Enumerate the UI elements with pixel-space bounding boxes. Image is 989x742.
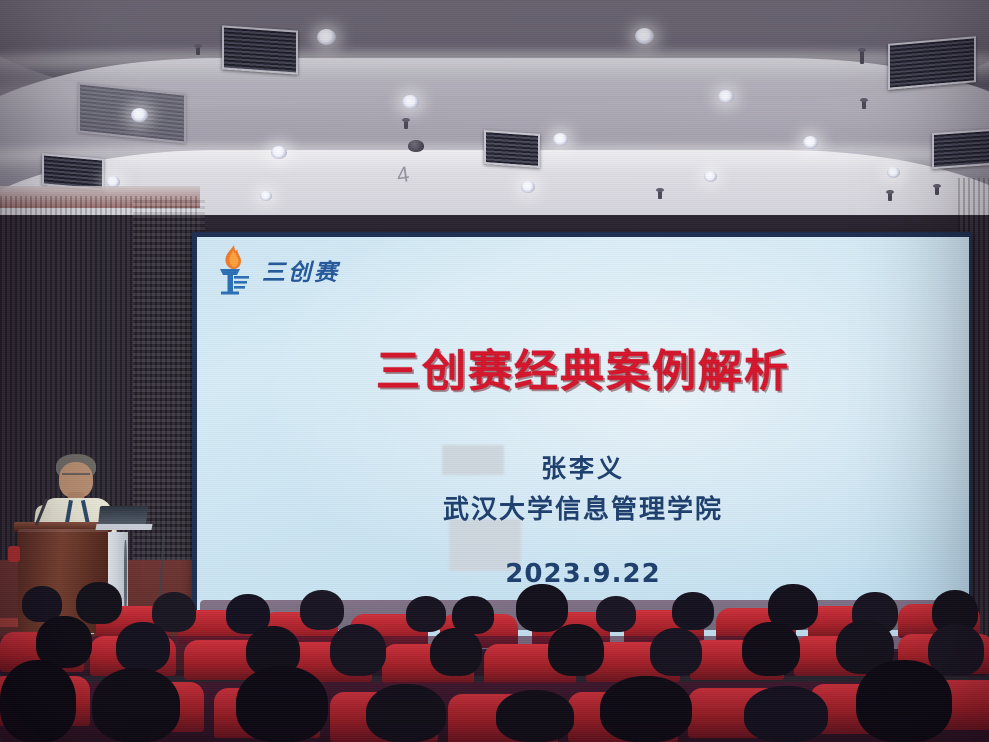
speaker-glasses-icon [62,473,90,480]
stage-object [8,546,20,562]
torch-base-icon [215,267,251,295]
downlight-icon [317,29,336,45]
downlight-icon [521,181,535,193]
audience-head [596,596,636,632]
audience-head [548,624,604,676]
laptop-base [95,524,152,530]
downlight-icon [271,146,287,159]
audience-head [672,592,714,630]
audience-head [856,660,952,742]
sprinkler-icon [935,186,939,195]
ceiling: 4 [0,0,989,215]
sprinkler-icon [860,50,864,64]
laptop [98,506,148,526]
sprinkler-icon [658,190,662,199]
slide-speaker-name: 张李义 [197,449,969,485]
audience-head [744,686,828,742]
slide-date: 2023.9.22 [197,559,969,589]
auditorium-photo: 4 三创赛 [0,0,989,742]
sprinkler-icon [404,120,408,129]
slide-title: 三创赛经典案例解析 [197,335,969,399]
audience-head [300,590,344,630]
audience-head [928,624,984,676]
ac-vent-icon [888,36,976,90]
audience-head [330,624,386,676]
sprinkler-icon [862,100,866,109]
audience-head [366,684,446,742]
competition-logo: 三创赛 [211,245,340,295]
audience-head [0,660,76,742]
ac-vent-icon [932,129,989,169]
ceiling-sheen [0,52,989,78]
ac-vent-icon [222,25,298,74]
downlight-icon [803,136,818,149]
downlight-icon [553,133,568,146]
torch-flame-icon [211,245,255,295]
audience-head [116,622,170,672]
audience-head [742,622,800,676]
audience-head [236,666,328,742]
slide-organization: 武汉大学信息管理学院 [197,489,969,526]
audience-head [516,584,568,632]
downlight-icon [635,28,654,44]
audience-head [76,582,122,624]
sprinkler-icon [888,192,892,201]
audience-head [92,668,180,742]
audience-head [430,628,482,676]
downlight-icon [131,108,148,122]
downlight-icon [704,171,717,182]
logo-text: 三创赛 [262,253,340,287]
cable [124,540,127,616]
ac-vent-icon [484,130,540,168]
sprinkler-icon [196,46,200,55]
downlight-icon [718,90,734,103]
audience-head [650,628,702,676]
audience-head [406,596,446,632]
audience-head [496,690,574,742]
downlight-icon [260,191,272,201]
downlight-icon [402,95,419,109]
downlight-icon [887,167,900,178]
ceiling-speaker-icon [408,140,424,152]
projection-screen: 三创赛 三创赛经典案例解析 张李义 武汉大学信息管理学院 2023.9.22 [197,237,969,649]
audience-head [600,676,692,742]
